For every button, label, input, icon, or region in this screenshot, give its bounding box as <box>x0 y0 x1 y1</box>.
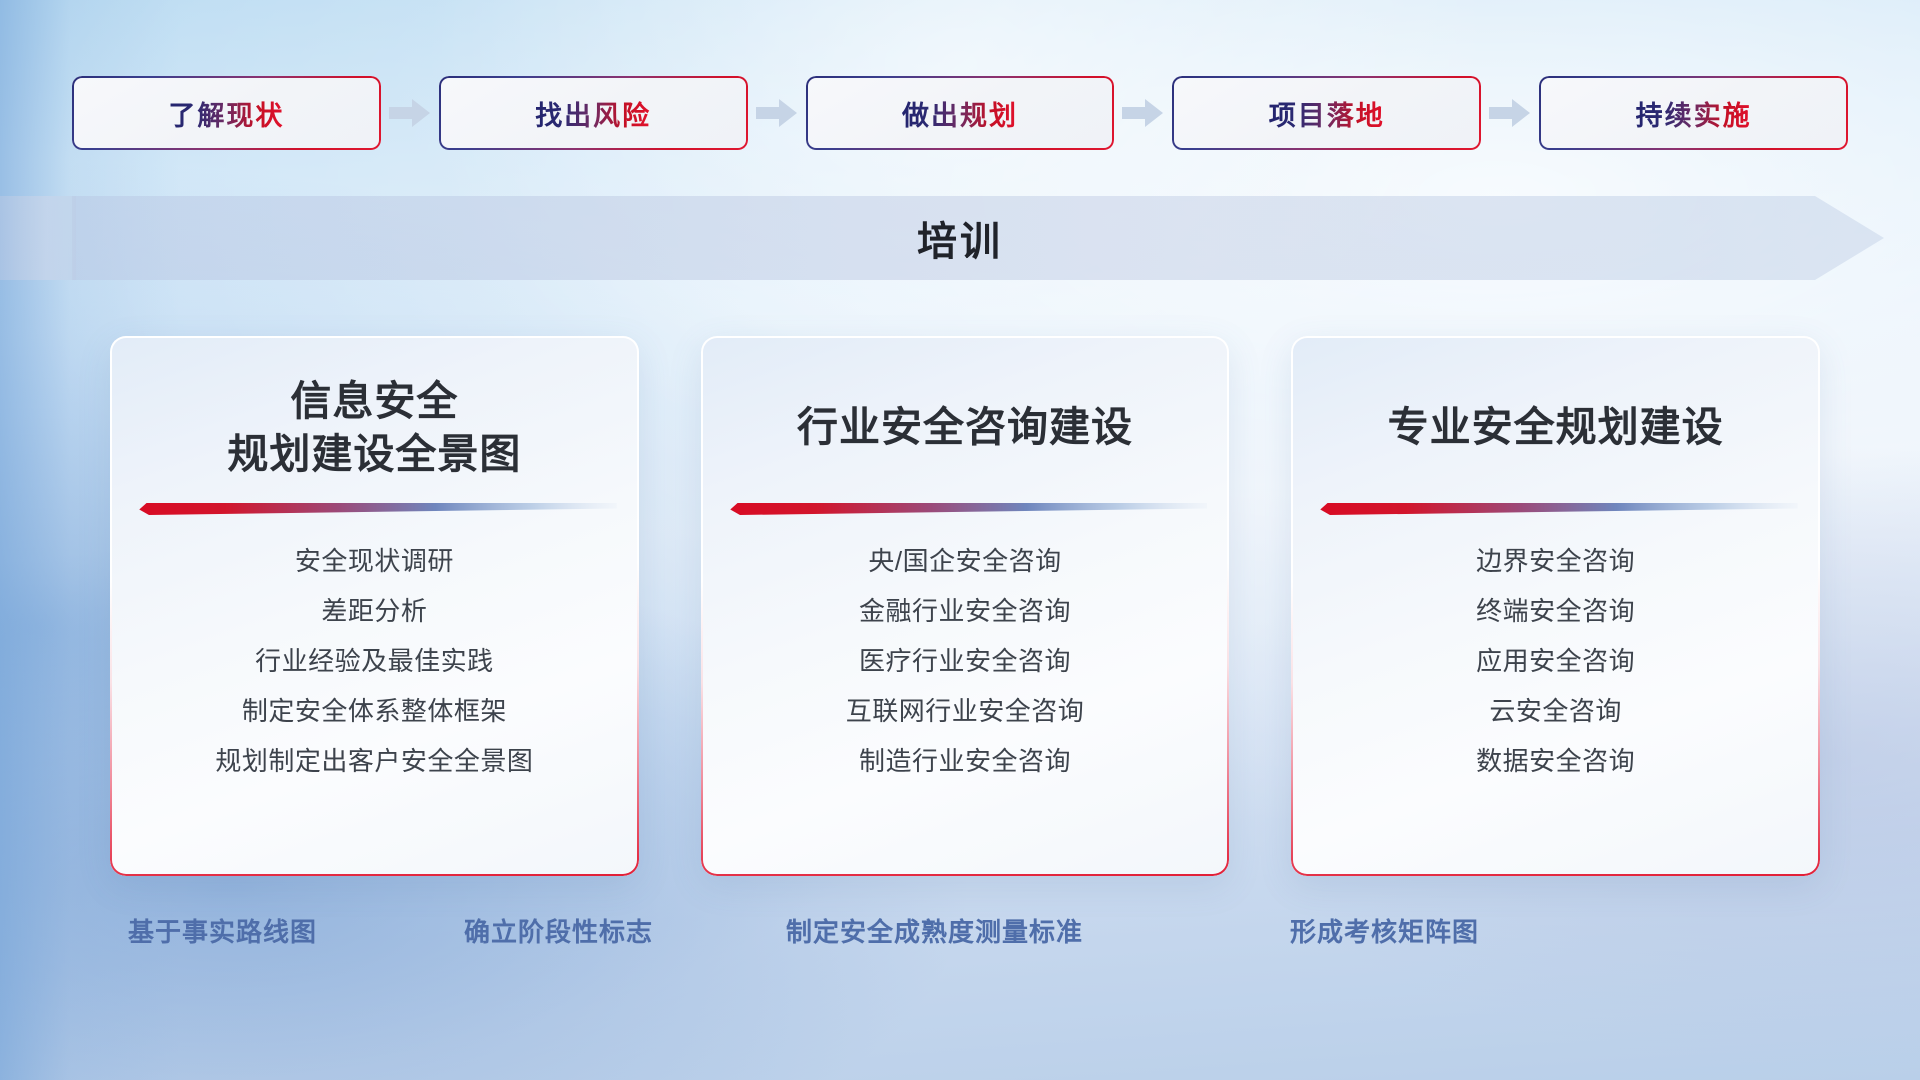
service-card-3[interactable]: 专业安全规划建设边界安全咨询终端安全咨询应用安全咨询云安全咨询数据安全咨询 <box>1291 336 1820 876</box>
card-list-item[interactable]: 金融行业安全咨询 <box>859 586 1071 636</box>
gradient-divider-icon <box>723 496 1208 522</box>
card-title-line: 专业安全规划建设 <box>1388 401 1724 454</box>
right-arrow-icon <box>381 76 439 150</box>
card-list-item[interactable]: 制造行业安全咨询 <box>859 736 1071 786</box>
banner-title: 培训 <box>0 196 1920 280</box>
card-item-list: 安全现状调研差距分析行业经验及最佳实践制定安全体系整体框架规划制定出客户安全全景… <box>132 536 617 786</box>
card-title-line: 信息安全 <box>227 375 521 428</box>
outcome-label-3: 制定安全成熟度测量标准 <box>786 912 1083 949</box>
card-list-item[interactable]: 央/国企安全咨询 <box>868 536 1061 586</box>
card-item-list: 央/国企安全咨询金融行业安全咨询医疗行业安全咨询互联网行业安全咨询制造行业安全咨… <box>723 536 1208 786</box>
process-step-row: 了解现状找出风险做出规划项目落地持续实施 <box>72 76 1848 150</box>
right-arrow-icon <box>748 76 806 150</box>
service-card-2[interactable]: 行业安全咨询建设央/国企安全咨询金融行业安全咨询医疗行业安全咨询互联网行业安全咨… <box>701 336 1230 876</box>
card-list-item[interactable]: 医疗行业安全咨询 <box>859 636 1071 686</box>
outcome-label-4: 形成考核矩阵图 <box>1290 912 1479 949</box>
step-label: 做出规划 <box>902 94 1018 133</box>
card-list-item[interactable]: 边界安全咨询 <box>1476 536 1635 586</box>
card-list-item[interactable]: 规划制定出客户安全全景图 <box>215 736 533 786</box>
card-item-list: 边界安全咨询终端安全咨询应用安全咨询云安全咨询数据安全咨询 <box>1313 536 1798 786</box>
card-title: 信息安全规划建设全景图 <box>227 372 521 484</box>
card-title: 专业安全规划建设 <box>1388 372 1724 484</box>
step-box-3[interactable]: 做出规划 <box>806 76 1115 150</box>
card-list-item[interactable]: 差距分析 <box>321 586 427 636</box>
step-label: 了解现状 <box>168 94 284 133</box>
card-list-item[interactable]: 行业经验及最佳实践 <box>255 636 494 686</box>
card-list-item[interactable]: 制定安全体系整体框架 <box>242 686 507 736</box>
card-title-line: 规划建设全景图 <box>227 428 521 481</box>
service-card-row: 信息安全规划建设全景图安全现状调研差距分析行业经验及最佳实践制定安全体系整体框架… <box>110 336 1820 876</box>
outcome-label-row: 基于事实路线图确立阶段性标志制定安全成熟度测量标准形成考核矩阵图 <box>0 912 1920 960</box>
step-label: 持续实施 <box>1636 94 1752 133</box>
card-list-item[interactable]: 云安全咨询 <box>1489 686 1622 736</box>
card-list-item[interactable]: 终端安全咨询 <box>1476 586 1635 636</box>
step-box-5[interactable]: 持续实施 <box>1539 76 1848 150</box>
gradient-divider-icon <box>1313 496 1798 522</box>
step-box-4[interactable]: 项目落地 <box>1172 76 1481 150</box>
outcome-label-1: 基于事实路线图 <box>128 912 317 949</box>
step-label: 找出风险 <box>535 94 651 133</box>
service-card-1[interactable]: 信息安全规划建设全景图安全现状调研差距分析行业经验及最佳实践制定安全体系整体框架… <box>110 336 639 876</box>
training-banner: 培训 <box>0 196 1920 280</box>
gradient-divider-icon <box>132 496 617 522</box>
step-label: 项目落地 <box>1269 94 1385 133</box>
card-title-line: 行业安全咨询建设 <box>797 401 1133 454</box>
step-box-2[interactable]: 找出风险 <box>439 76 748 150</box>
right-arrow-icon <box>1114 76 1172 150</box>
outcome-label-2: 确立阶段性标志 <box>464 912 653 949</box>
card-title: 行业安全咨询建设 <box>797 372 1133 484</box>
card-list-item[interactable]: 安全现状调研 <box>295 536 454 586</box>
card-list-item[interactable]: 应用安全咨询 <box>1476 636 1635 686</box>
card-list-item[interactable]: 数据安全咨询 <box>1476 736 1635 786</box>
right-arrow-icon <box>1481 76 1539 150</box>
step-box-1[interactable]: 了解现状 <box>72 76 381 150</box>
card-list-item[interactable]: 互联网行业安全咨询 <box>846 686 1085 736</box>
